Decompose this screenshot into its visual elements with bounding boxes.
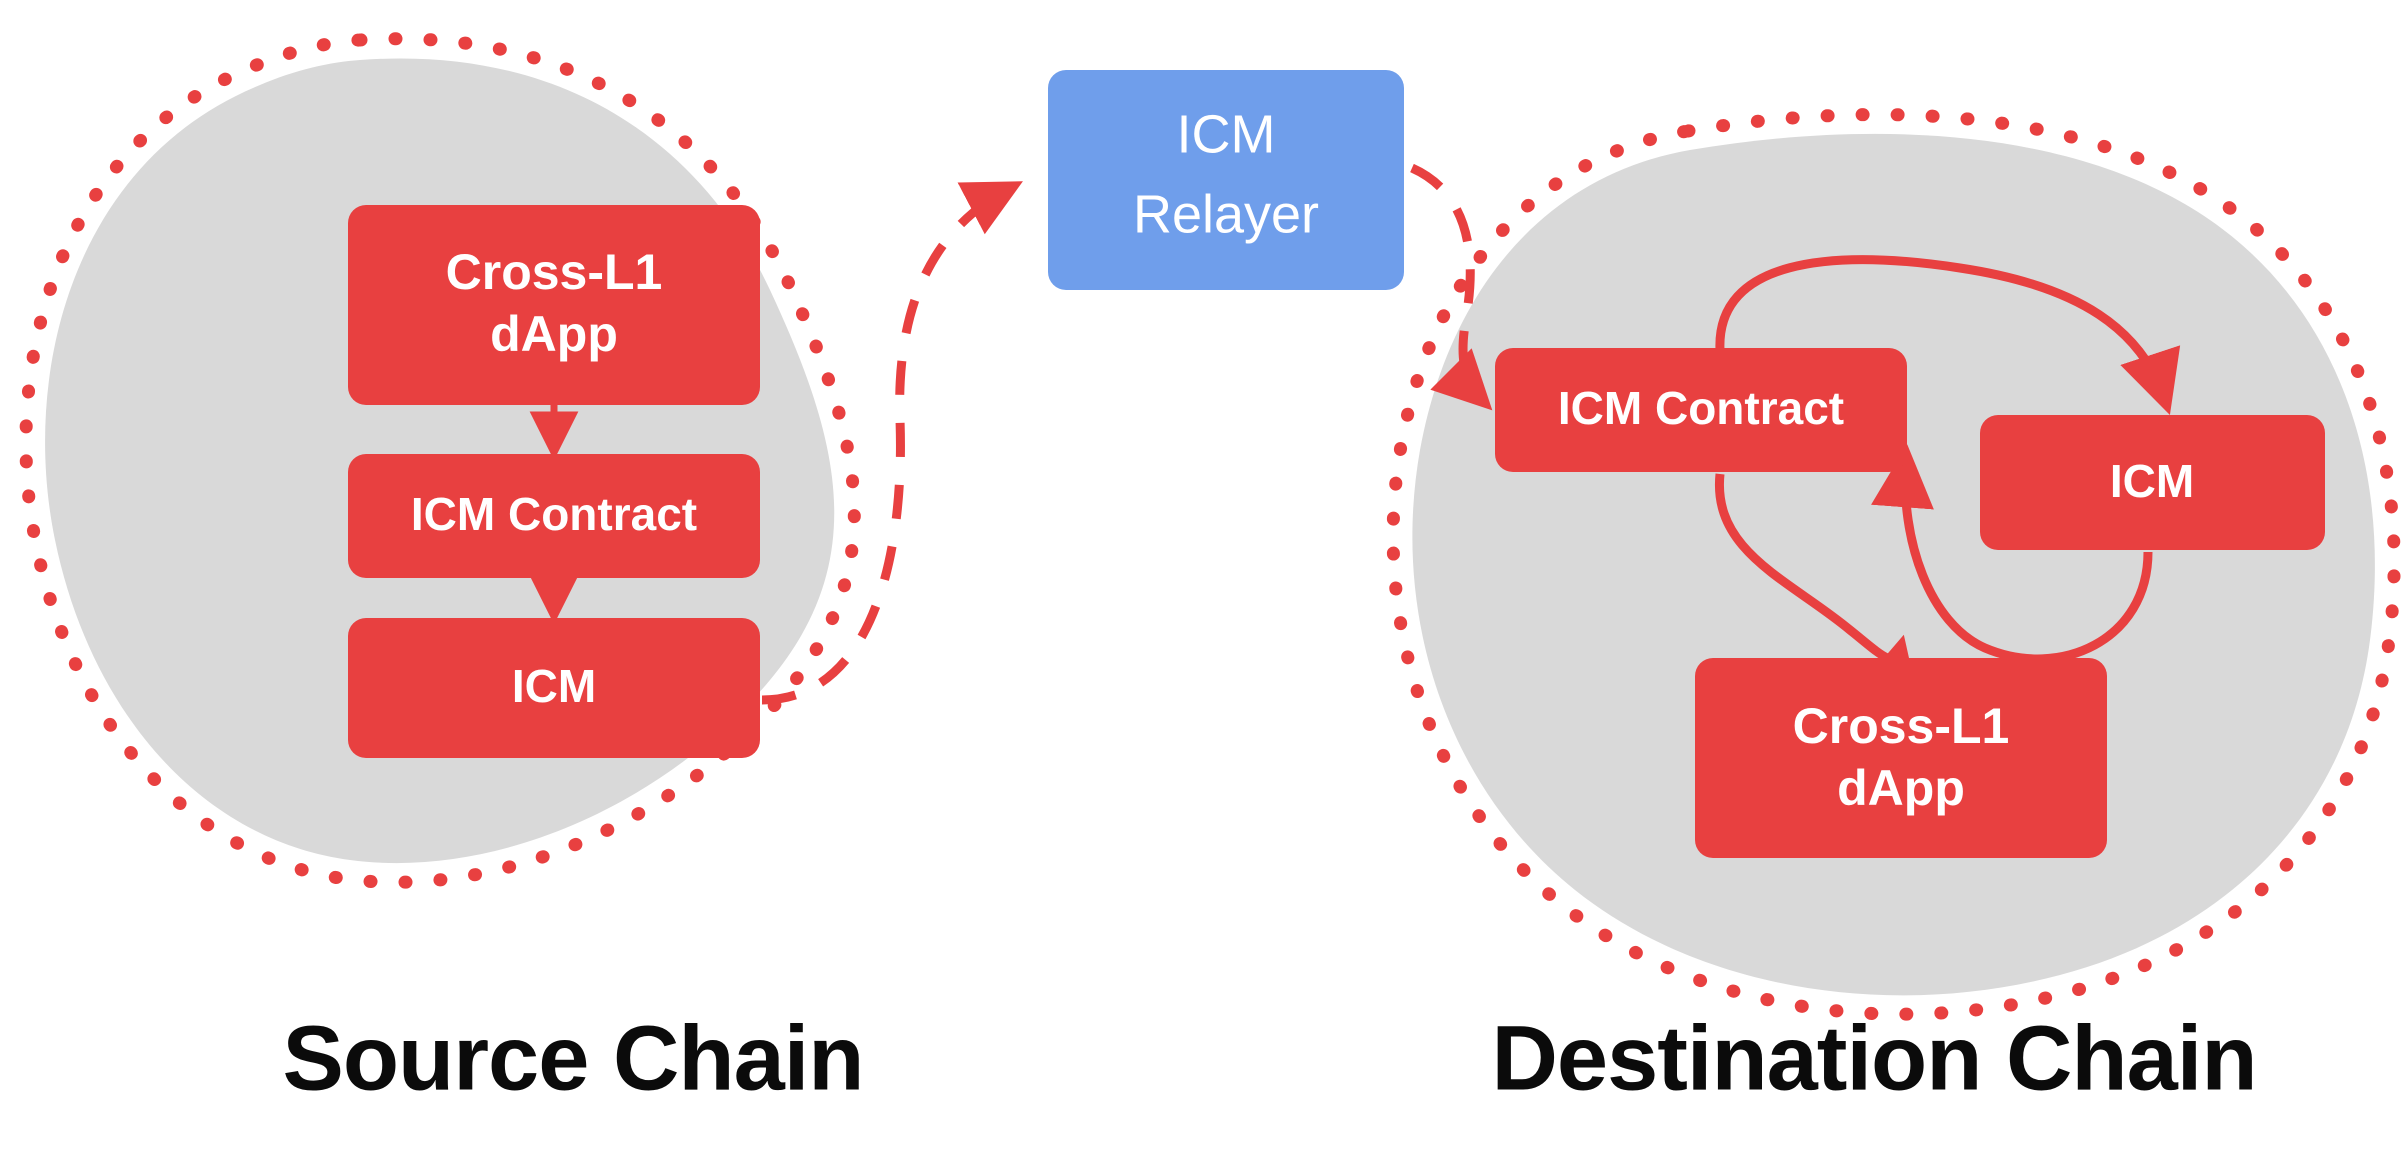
node-src-dapp-label-line1: Cross-L1	[446, 244, 663, 300]
node-dst-dapp-label-line1: Cross-L1	[1793, 698, 2010, 754]
destination-chain-caption: Destination Chain	[1491, 1007, 2256, 1109]
node-icm-relayer-box[interactable]	[1048, 70, 1404, 290]
source-chain-caption: Source Chain	[282, 1007, 863, 1109]
node-src-icm[interactable]: ICM	[348, 618, 760, 758]
node-dst-icm-contract-label: ICM Contract	[1558, 382, 1844, 434]
icm-flow-diagram: Cross-L1 dApp ICM Contract ICM ICM Relay…	[0, 0, 2406, 1160]
node-src-icm-contract[interactable]: ICM Contract	[348, 454, 760, 578]
node-dst-icm-label: ICM	[2110, 455, 2194, 507]
destination-chain-region	[1393, 115, 2394, 1015]
node-dst-icm-contract[interactable]: ICM Contract	[1495, 348, 1907, 472]
node-icm-relayer-label-line1: ICM	[1177, 104, 1276, 164]
node-dst-cross-l1-dapp[interactable]: Cross-L1 dApp	[1695, 658, 2107, 858]
source-chain-nodes: Cross-L1 dApp ICM Contract ICM	[348, 205, 760, 758]
node-src-icm-contract-label: ICM Contract	[411, 488, 697, 540]
node-dst-dapp-box[interactable]	[1695, 658, 2107, 858]
node-src-dapp-label-line2: dApp	[490, 306, 618, 362]
node-icm-relayer[interactable]: ICM Relayer	[1048, 70, 1404, 290]
node-src-dapp-box[interactable]	[348, 205, 760, 405]
node-icm-relayer-label-line2: Relayer	[1133, 184, 1319, 244]
diagram-canvas: Cross-L1 dApp ICM Contract ICM ICM Relay…	[0, 0, 2406, 1160]
node-dst-icm[interactable]: ICM	[1980, 415, 2325, 550]
node-dst-dapp-label-line2: dApp	[1837, 760, 1965, 816]
node-src-cross-l1-dapp[interactable]: Cross-L1 dApp	[348, 205, 760, 405]
node-src-icm-label: ICM	[512, 660, 596, 712]
